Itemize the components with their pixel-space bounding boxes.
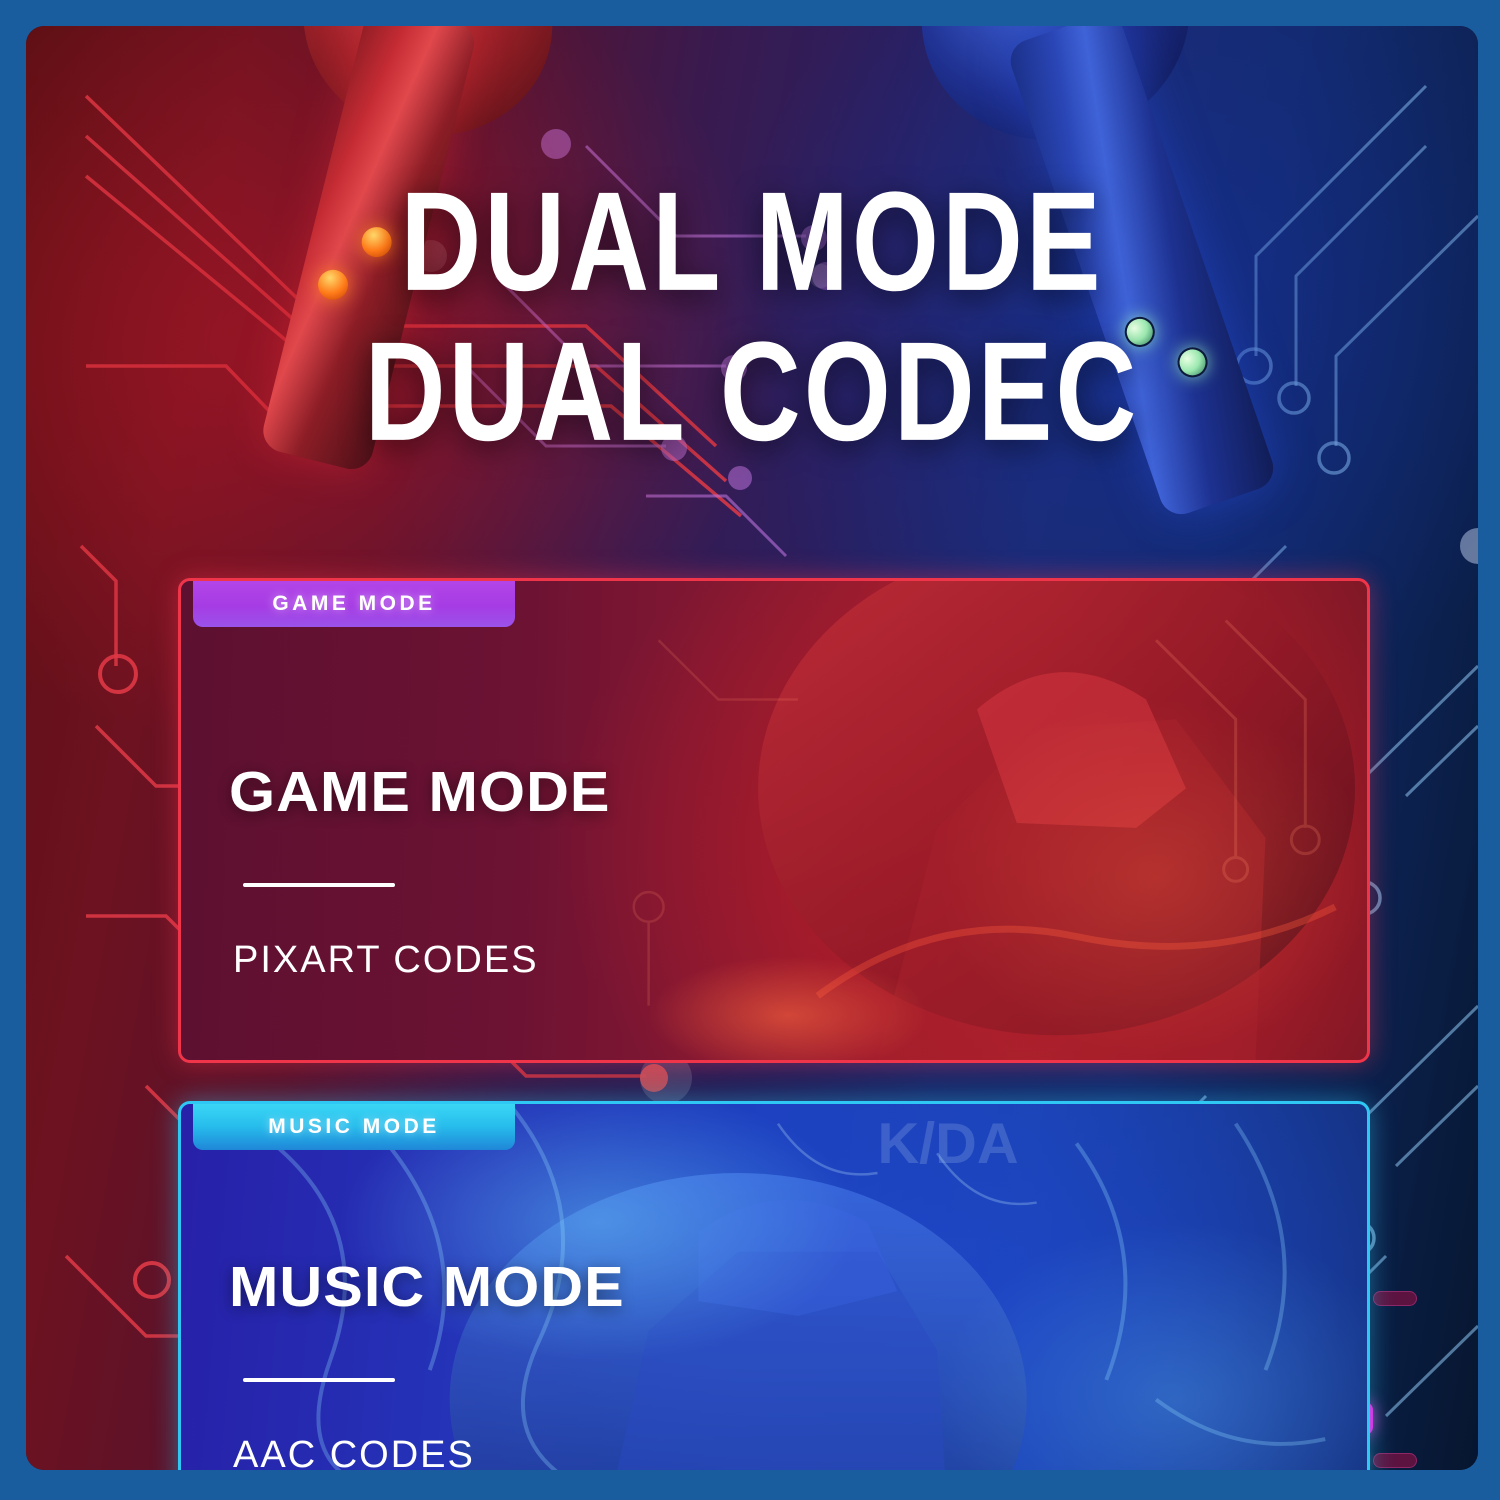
tab-music-mode[interactable]: MUSIC MODE [193, 1104, 515, 1150]
headline-line-1: DUAL MODE [26, 174, 1478, 309]
music-mode-left-block: MUSIC MODE AAC CODES [229, 1254, 610, 1470]
headline-line-2: DUAL CODEC [26, 324, 1478, 459]
tab-game-mode[interactable]: GAME MODE [193, 581, 515, 627]
music-mode-title: MUSIC MODE [229, 1254, 625, 1320]
music-mode-divider [243, 1378, 395, 1382]
svg-text:K/DA: K/DA [877, 1112, 1018, 1176]
tab-game-mode-label: GAME MODE [272, 592, 435, 616]
game-mode-title: GAME MODE [229, 759, 611, 825]
page-title: DUAL MODE DUAL CODEC [26, 174, 1478, 431]
segment [1373, 1291, 1417, 1306]
game-mode-left-block: GAME MODE PIXART CODES [229, 759, 596, 982]
poster-stage: DUAL MODE DUAL CODEC [26, 26, 1478, 1470]
tab-music-mode-label: MUSIC MODE [268, 1115, 440, 1139]
segment [1373, 1453, 1417, 1468]
game-mode-codec: PIXART CODES [233, 939, 596, 982]
music-mode-codec: AAC CODES [233, 1434, 610, 1470]
outer-frame: DUAL MODE DUAL CODEC [0, 0, 1500, 1500]
game-mode-divider [243, 883, 395, 887]
game-mode-card[interactable]: GAME MODE GAME MODE PIXART CODES [178, 578, 1370, 1063]
music-mode-card[interactable]: K/DA MUSIC MODE MUSIC MODE AAC CODES [178, 1101, 1370, 1470]
